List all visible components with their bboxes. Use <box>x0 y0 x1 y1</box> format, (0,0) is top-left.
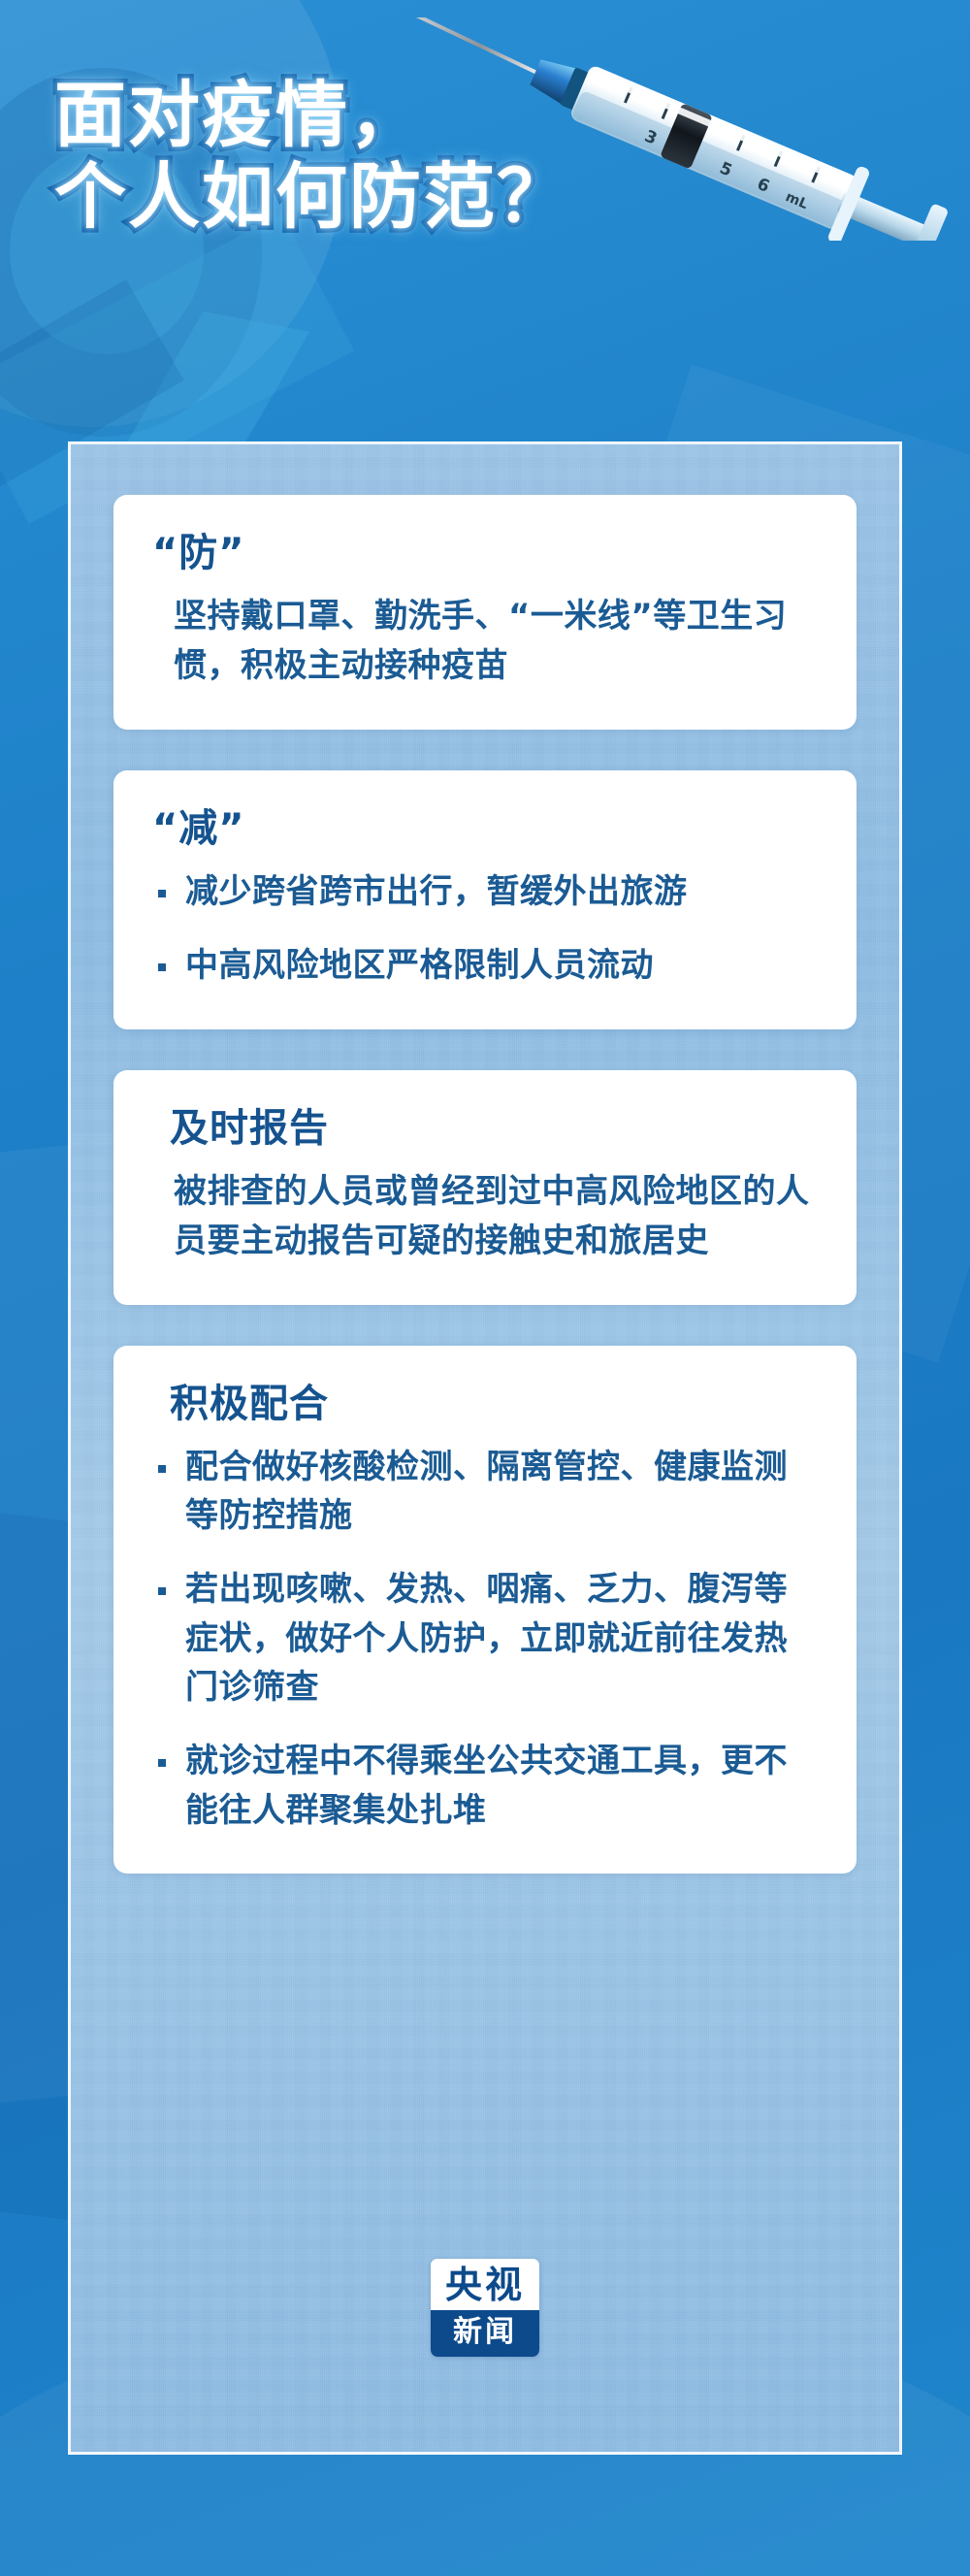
card-jijipeihe-title: 积极配合 <box>152 1383 818 1425</box>
content-panel: “防” 坚持戴口罩、勤洗手、“一米线”等卫生习惯，积极主动接种疫苗 “减” 减少… <box>68 441 902 2455</box>
infographic-poster: 3 4 5 6 mL 面对疫情， 个人如何防范？ “防” <box>0 0 970 2576</box>
logo-line-1: 央视 <box>431 2259 539 2310</box>
list-item: 减少跨省跨市出行，暂缓外出旅游 <box>152 867 818 916</box>
logo-badge: 央视 新闻 <box>431 2259 539 2357</box>
card-jian: “减” 减少跨省跨市出行，暂缓外出旅游 中高风险地区严格限制人员流动 <box>113 770 857 1029</box>
card-fang-paragraph: 坚持戴口罩、勤洗手、“一米线”等卫生习惯，积极主动接种疫苗 <box>152 592 818 691</box>
card-fang-title: “防” <box>152 532 818 574</box>
card-jian-bullets: 减少跨省跨市出行，暂缓外出旅游 中高风险地区严格限制人员流动 <box>152 867 818 991</box>
list-item: 若出现咳嗽、发热、咽痛、乏力、腹泻等症状，做好个人防护，立即就近前往发热门诊筛查 <box>152 1565 818 1712</box>
poster-title-line-2: 个人如何防范？ <box>54 157 570 239</box>
poster-title-line-1: 面对疫情， <box>54 76 570 157</box>
list-item: 配合做好核酸检测、隔离管控、健康监测等防控措施 <box>152 1443 818 1541</box>
card-jian-title: “减” <box>152 807 818 850</box>
logo-line-2: 新闻 <box>431 2310 539 2357</box>
list-item: 就诊过程中不得乘坐公共交通工具，更不能往人群聚集处扎堆 <box>152 1737 818 1835</box>
cctv-news-logo: 央视 新闻 <box>431 2259 539 2357</box>
card-jijipeihe-bullets: 配合做好核酸检测、隔离管控、健康监测等防控措施 若出现咳嗽、发热、咽痛、乏力、腹… <box>152 1443 818 1835</box>
card-jijipeihe: 积极配合 配合做好核酸检测、隔离管控、健康监测等防控措施 若出现咳嗽、发热、咽痛… <box>113 1346 857 1874</box>
card-jishibaogao: 及时报告 被排查的人员或曾经到过中高风险地区的人员要主动报告可疑的接触史和旅居史 <box>113 1070 857 1305</box>
card-list: “防” 坚持戴口罩、勤洗手、“一米线”等卫生习惯，积极主动接种疫苗 “减” 减少… <box>113 495 857 1874</box>
list-item: 中高风险地区严格限制人员流动 <box>152 941 818 990</box>
card-fang: “防” 坚持戴口罩、勤洗手、“一米线”等卫生习惯，积极主动接种疫苗 <box>113 495 857 730</box>
card-jishibaogao-title: 及时报告 <box>152 1107 818 1150</box>
card-jishibaogao-paragraph: 被排查的人员或曾经到过中高风险地区的人员要主动报告可疑的接触史和旅居史 <box>152 1167 818 1266</box>
poster-title: 面对疫情， 个人如何防范？ <box>54 76 570 238</box>
